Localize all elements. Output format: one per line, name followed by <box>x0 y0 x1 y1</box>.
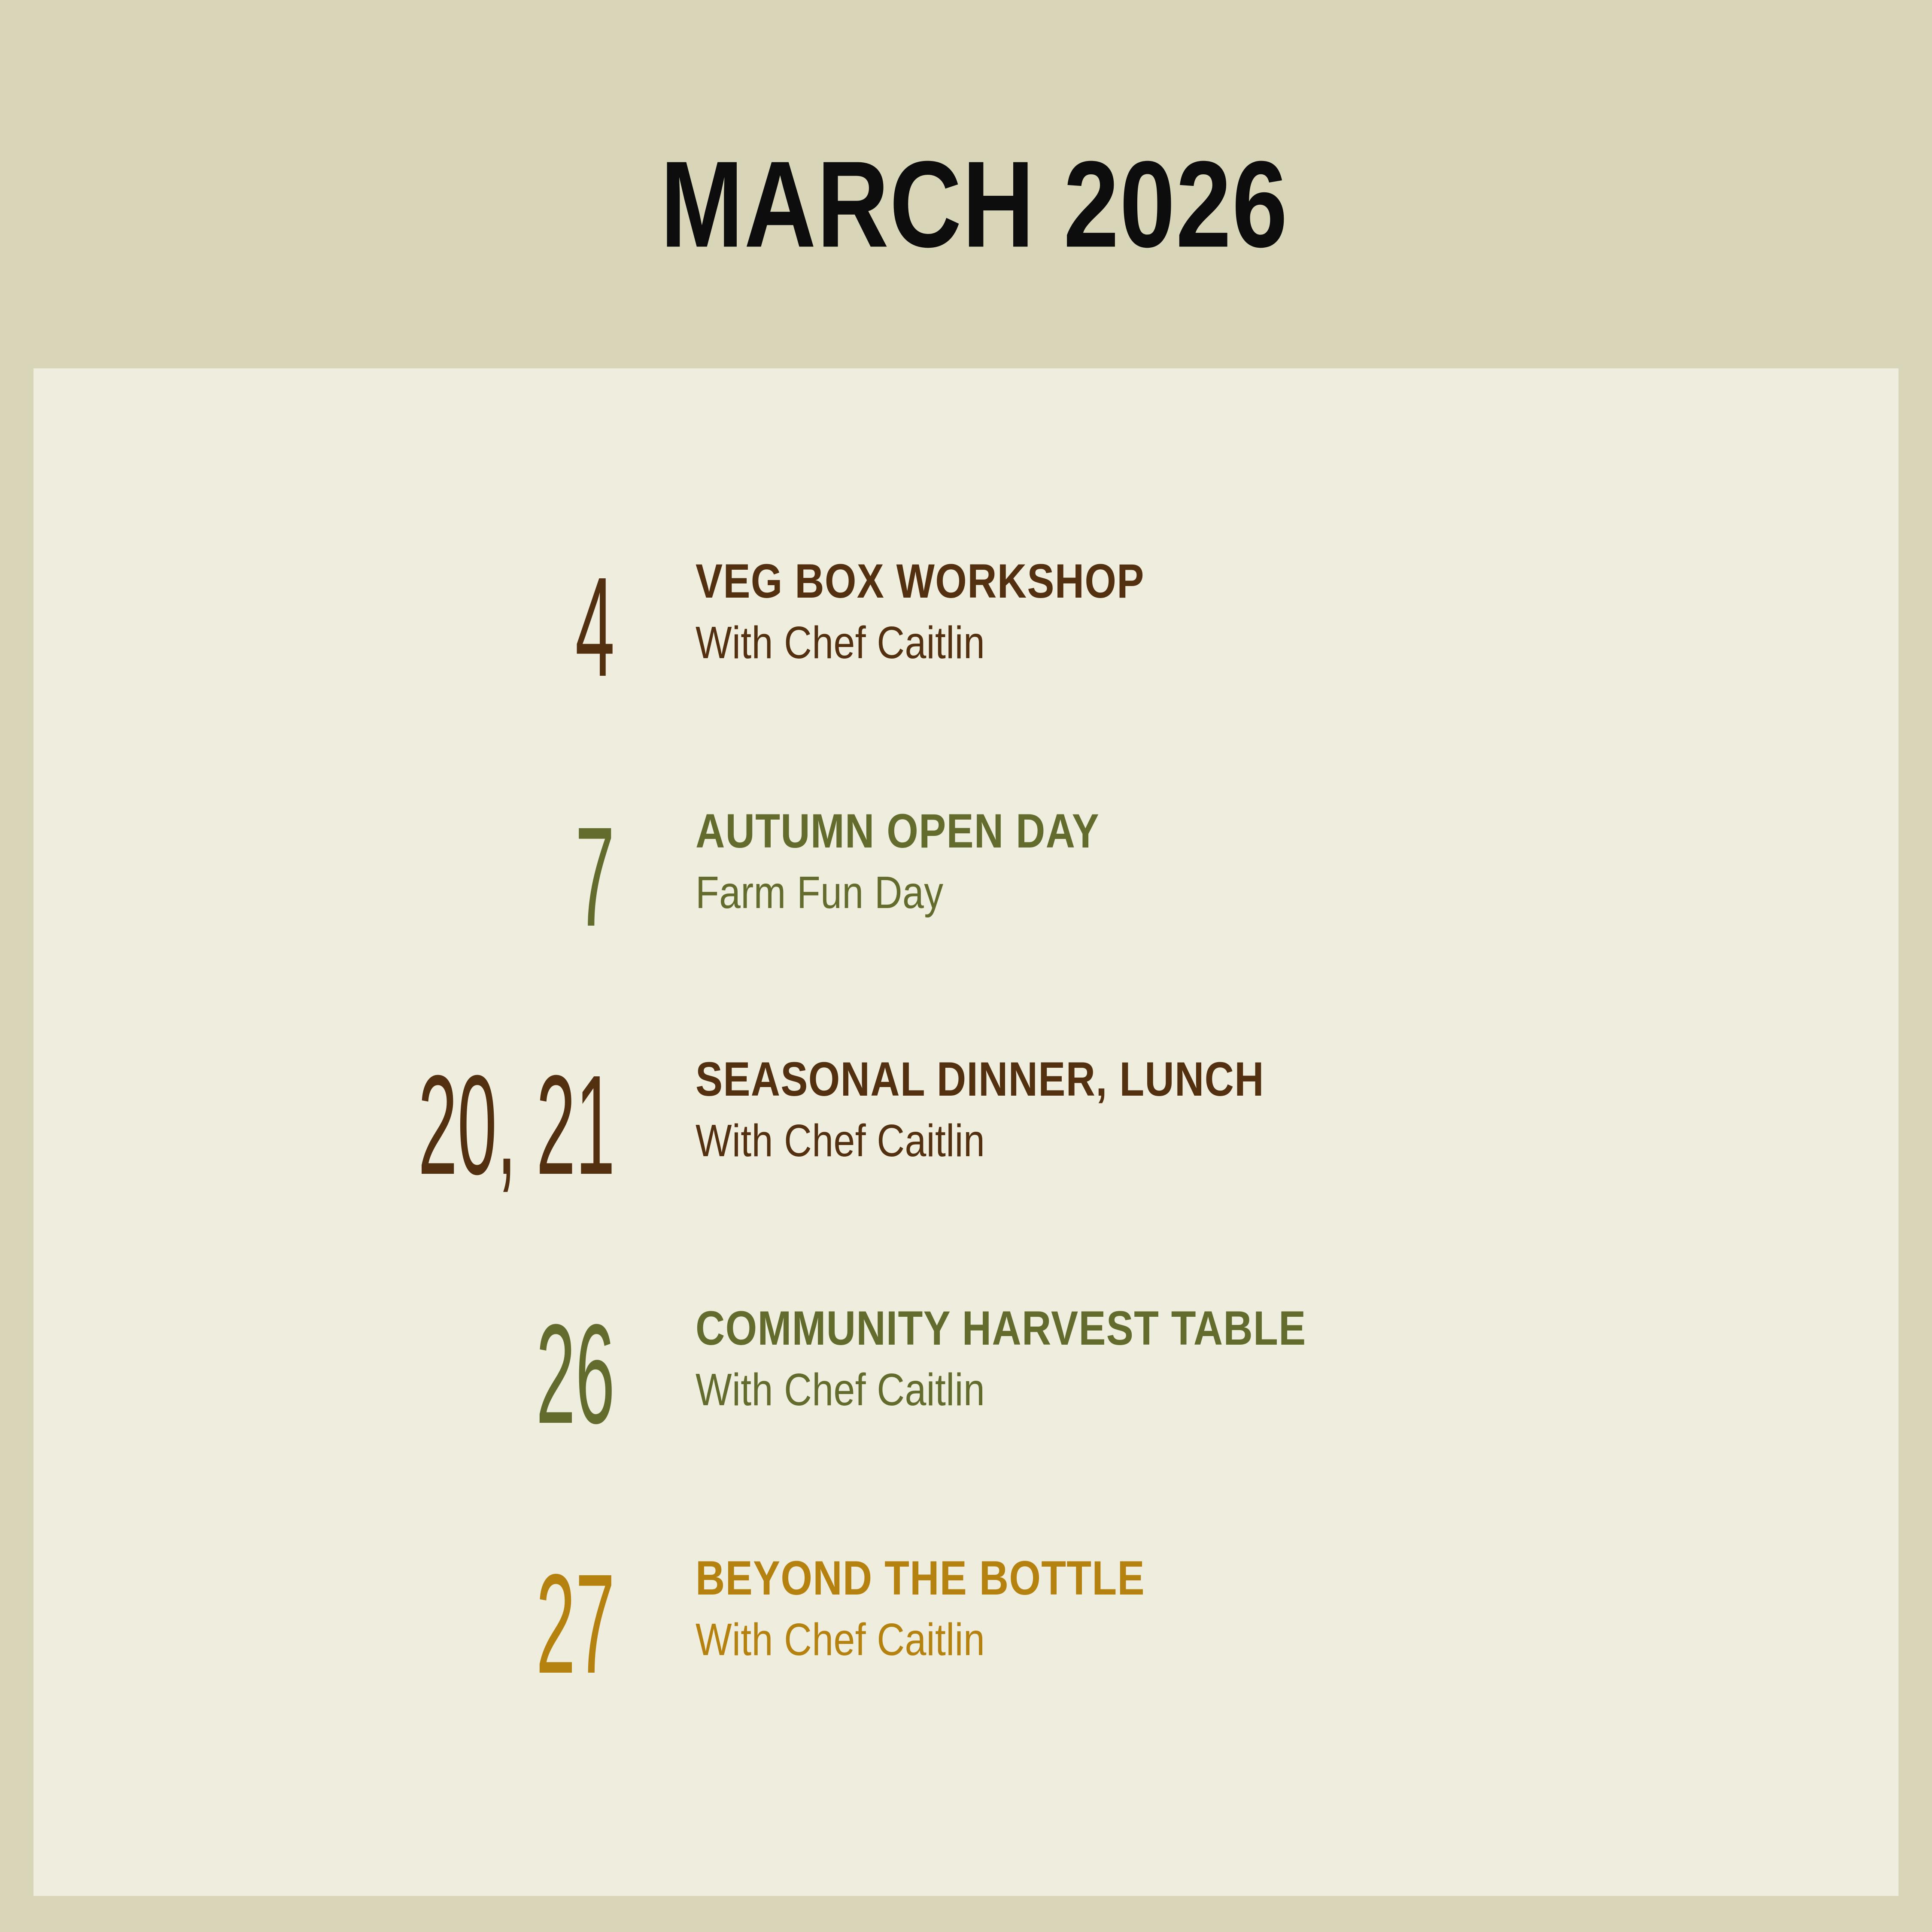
poster-header: MARCH 2026 <box>0 0 1932 368</box>
event-title: COMMUNITY HARVEST TABLE <box>696 1304 1675 1352</box>
event-text-block: SEASONAL DINNER, LUNCH With Chef Caitlin <box>696 1055 1855 1163</box>
event-text-block: BEYOND THE BOTTLE With Chef Caitlin <box>696 1554 1855 1662</box>
event-date: 26 <box>457 1304 615 1433</box>
event-row[interactable]: 26 COMMUNITY HARVEST TABLE With Chef Cai… <box>33 1304 1899 1433</box>
event-text-block: VEG BOX WORKSHOP With Chef Caitlin <box>696 557 1855 665</box>
event-date: 4 <box>536 557 615 686</box>
event-row[interactable]: 4 VEG BOX WORKSHOP With Chef Caitlin <box>33 557 1899 686</box>
event-title: AUTUMN OPEN DAY <box>696 807 1675 855</box>
event-title: BEYOND THE BOTTLE <box>696 1554 1675 1602</box>
event-title: SEASONAL DINNER, LUNCH <box>696 1055 1675 1103</box>
event-date-value: 7 <box>575 817 615 936</box>
event-row[interactable]: 20, 21 SEASONAL DINNER, LUNCH With Chef … <box>33 1055 1899 1184</box>
event-date-value: 20, 21 <box>418 1065 615 1184</box>
event-subtitle: With Chef Caitlin <box>696 1118 1675 1163</box>
calendar-poster: MARCH 2026 4 VEG BOX WORKSHOP With Chef … <box>0 0 1932 1932</box>
event-text-block: AUTUMN OPEN DAY Farm Fun Day <box>696 807 1855 915</box>
event-row[interactable]: 27 BEYOND THE BOTTLE With Chef Caitlin <box>33 1554 1899 1683</box>
event-date-value: 27 <box>536 1564 615 1683</box>
event-subtitle: With Chef Caitlin <box>696 1617 1675 1662</box>
event-date-value: 26 <box>536 1314 615 1433</box>
event-date-value: 4 <box>575 567 615 686</box>
event-date: 7 <box>536 807 615 936</box>
event-text-block: COMMUNITY HARVEST TABLE With Chef Caitli… <box>696 1304 1855 1413</box>
event-subtitle: Farm Fun Day <box>696 870 1675 915</box>
event-subtitle: With Chef Caitlin <box>696 620 1675 665</box>
event-title: VEG BOX WORKSHOP <box>696 557 1675 605</box>
event-subtitle: With Chef Caitlin <box>696 1367 1675 1413</box>
events-panel: 4 VEG BOX WORKSHOP With Chef Caitlin 7 A… <box>33 368 1899 1896</box>
event-date: 20, 21 <box>221 1055 615 1184</box>
event-row[interactable]: 7 AUTUMN OPEN DAY Farm Fun Day <box>33 807 1899 936</box>
event-date: 27 <box>457 1554 615 1683</box>
month-title: MARCH 2026 <box>660 143 1288 266</box>
